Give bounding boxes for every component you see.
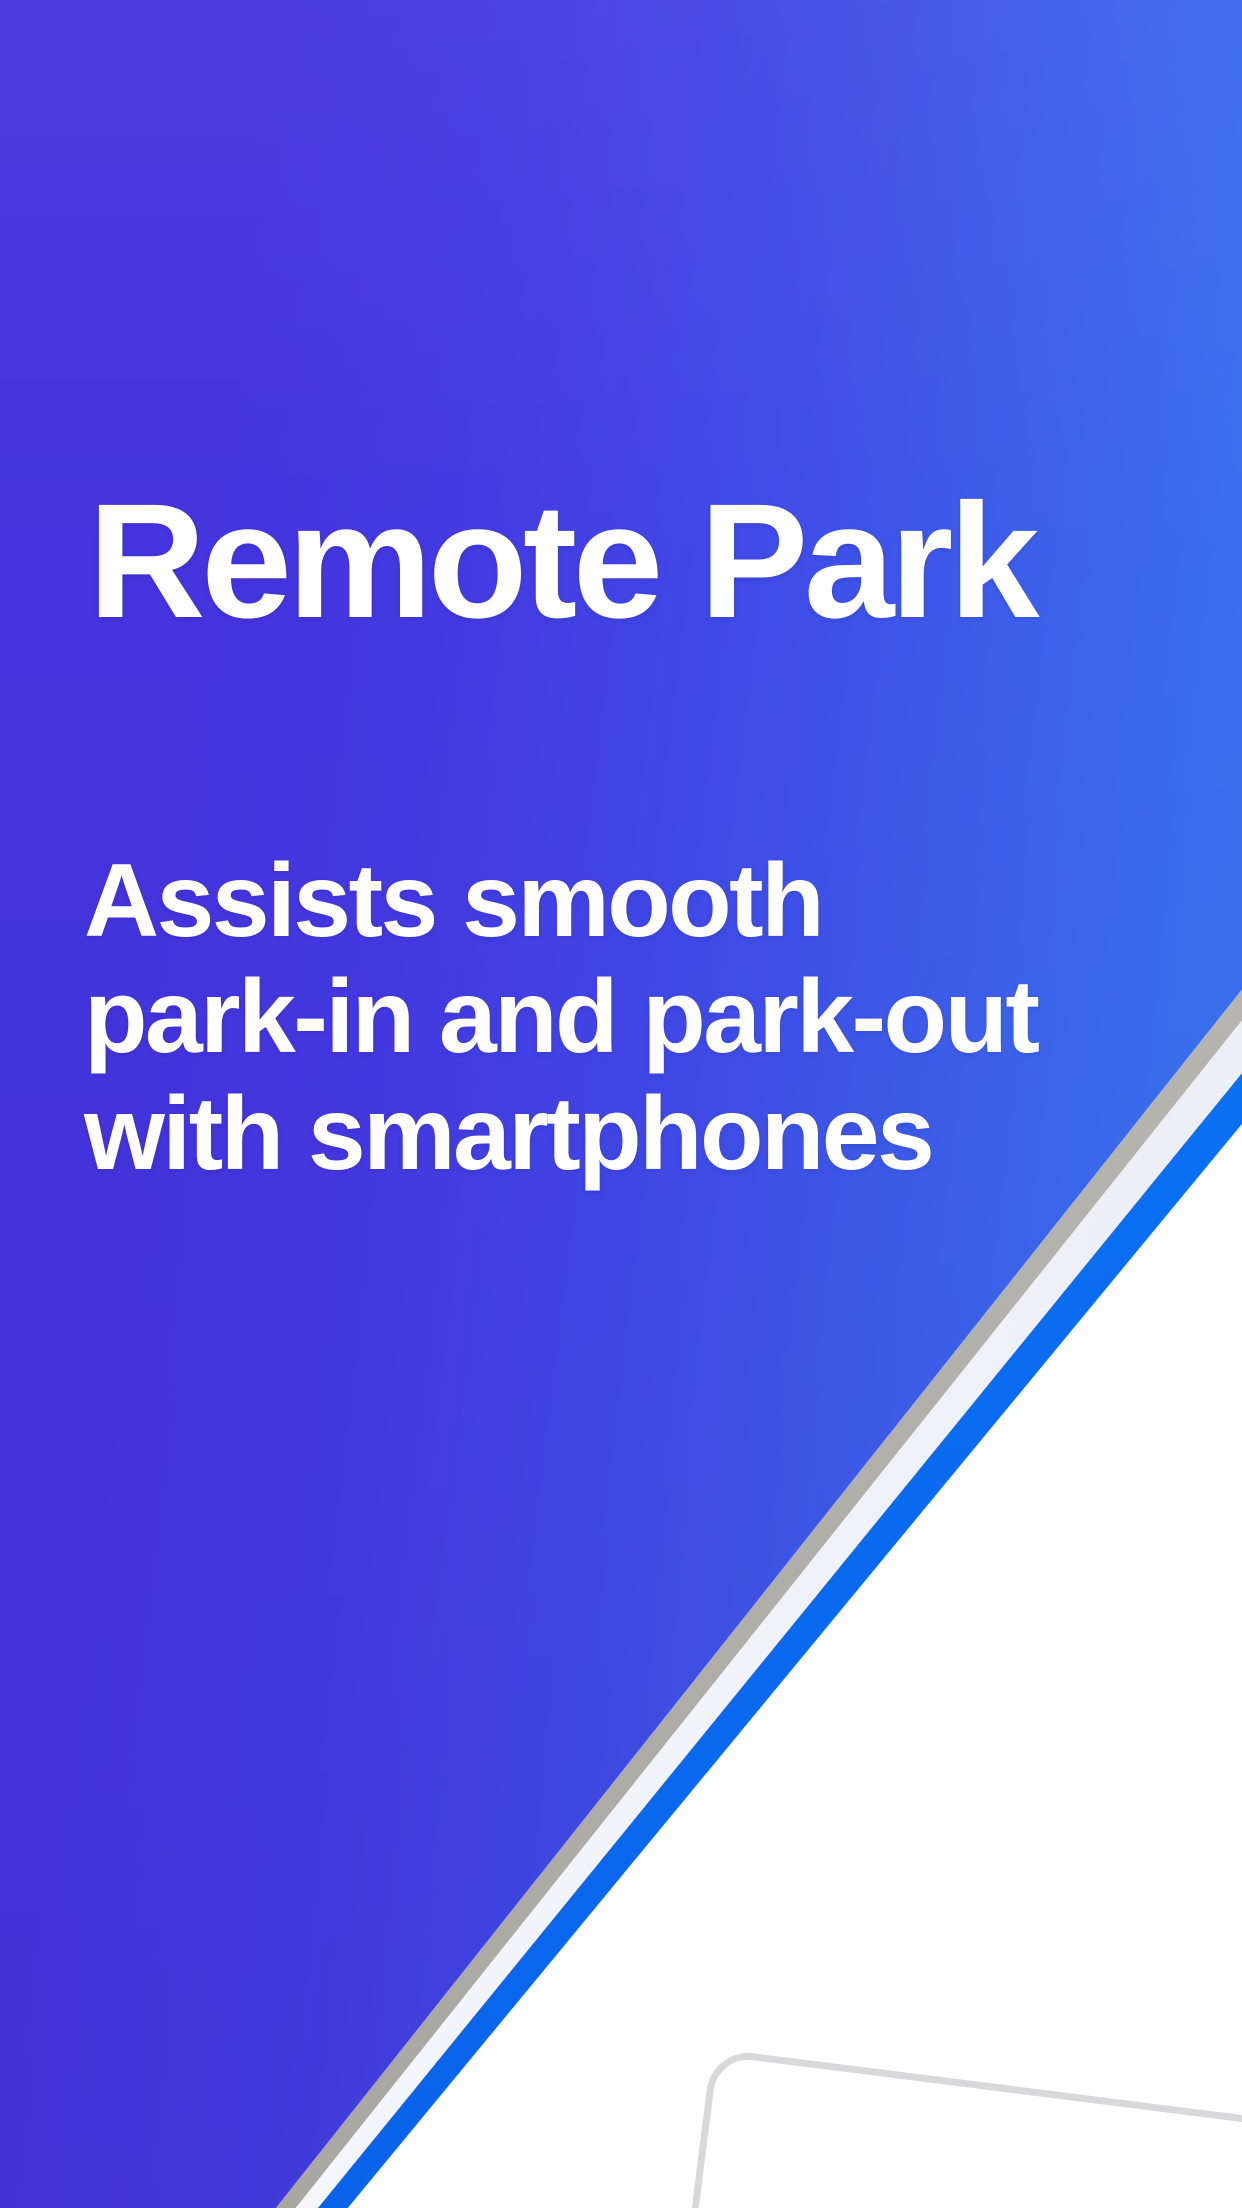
tagline-line-3: with smartphones xyxy=(84,1076,964,1192)
app-title: Remote Park xyxy=(88,478,1035,644)
tagline-line-1: Assists smooth xyxy=(84,843,964,959)
promo-content: Remote Park Assists smooth park-in and p… xyxy=(0,0,1242,2208)
tagline-line-2: park-in and park-out xyxy=(84,959,964,1075)
tagline: Assists smooth park-in and park-out with… xyxy=(84,843,964,1192)
app-store-promo-screenshot: Remote Park Assists smooth park-in and p… xyxy=(0,0,1242,2208)
